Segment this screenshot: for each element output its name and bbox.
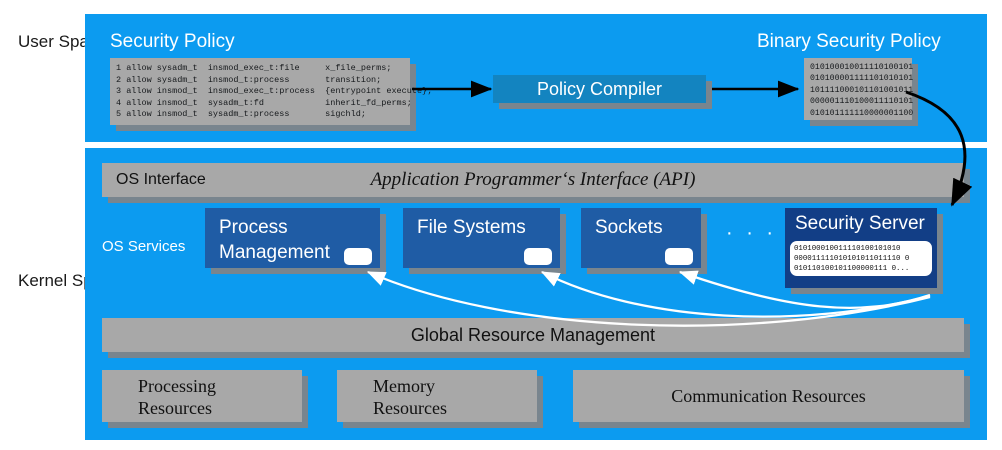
service-badge-file-systems [524,248,552,265]
resource-label-communication: Communication Resources [573,370,964,422]
security-policy-code: 1 allow sysadm_t insmod_exec_t:file x_fi… [110,58,410,125]
resource-box-memory: Memory Resources [337,370,537,422]
policy-compiler-box[interactable]: Policy Compiler [493,75,706,103]
security-policy-heading: Security Policy [110,31,235,53]
service-label-process-management: Process Management [219,215,330,265]
service-badge-sockets [665,248,693,265]
resource-box-communication: Communication Resources [573,370,964,422]
policy-compiler-label: Policy Compiler [493,75,706,103]
global-resource-management-label: Global Resource Management [102,318,964,352]
os-services-label: OS Services [102,238,185,255]
resource-box-processing: Processing Resources [102,370,302,422]
security-server-box[interactable]: Security Server 010100010011110100101010… [785,208,937,288]
security-server-title: Security Server [795,213,925,235]
binary-policy-heading: Binary Security Policy [757,31,941,53]
binary-security-policy-code: 010100010011110100101 010100001111101010… [804,58,912,120]
service-label-file-systems: File Systems [417,215,526,240]
service-badge-process-management [344,248,372,265]
resource-label-processing: Processing Resources [138,375,216,419]
security-server-binary: 010100010011110100101010 000011111010101… [790,241,932,276]
service-box-process-management[interactable]: Process Management [205,208,380,268]
service-box-sockets[interactable]: Sockets [581,208,701,268]
service-label-sockets: Sockets [595,215,663,240]
api-label: Application Programmer‘s Interface (API) [102,163,964,197]
service-box-file-systems[interactable]: File Systems [403,208,560,268]
resource-label-memory: Memory Resources [373,375,447,419]
diagram-canvas: User Space Kernel Space Security Policy … [0,0,1002,450]
os-interface-bar: OS Interface Application Programmer‘s In… [102,163,964,197]
services-ellipsis: · · · [726,222,777,245]
global-resource-management-bar: Global Resource Management [102,318,964,352]
